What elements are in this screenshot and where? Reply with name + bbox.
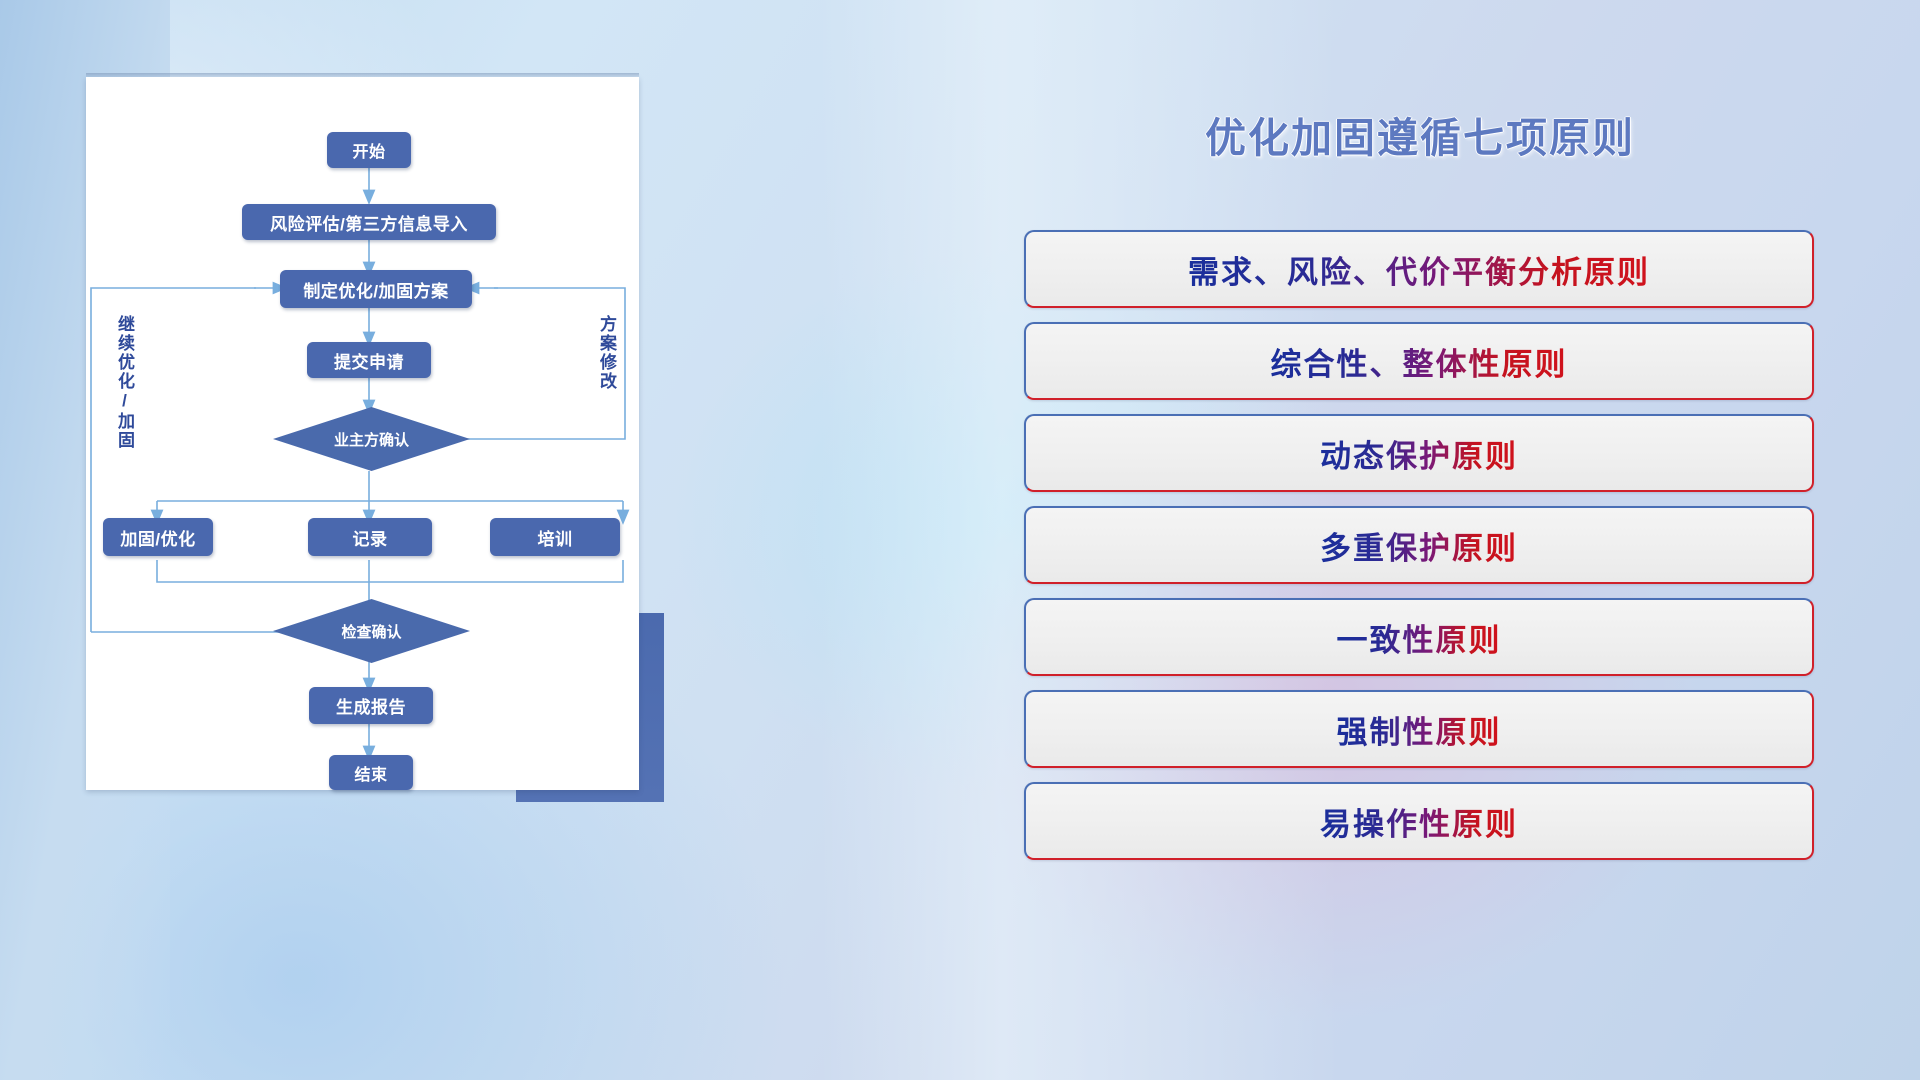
flow-node-label: 培训 (538, 525, 573, 550)
flow-node-reinforce-optimize[interactable]: 加固/优化 (103, 518, 213, 556)
page-title: 优化加固遵循七项原则 (1020, 104, 1820, 164)
flow-node-label: 制定优化/加固方案 (303, 277, 448, 302)
edge-label-continue-optimize: 继续优化/加固 (112, 315, 137, 450)
flow-node-label: 记录 (353, 525, 388, 550)
principle-label: 一致性原则 (1337, 615, 1502, 660)
flowchart: 开始 风险评估/第三方信息导入 制定优化/加固方案 提交申请 业主方确认 加固/… (86, 77, 639, 790)
principle-label: 综合性、整体性原则 (1271, 339, 1568, 384)
flow-node-check-confirm[interactable]: 检查确认 (273, 599, 470, 663)
flow-node-generate-report[interactable]: 生成报告 (309, 687, 433, 724)
principle-label: 动态保护原则 (1320, 431, 1518, 476)
flow-node-label: 风险评估/第三方信息导入 (270, 210, 468, 235)
flow-node-risk-assessment[interactable]: 风险评估/第三方信息导入 (242, 204, 496, 240)
flow-node-label: 加固/优化 (120, 525, 195, 550)
principle-item-6[interactable]: 强制性原则 (1024, 690, 1814, 768)
flow-node-label: 生成报告 (336, 693, 406, 718)
principle-item-1[interactable]: 需求、风险、代价平衡分析原则 (1024, 230, 1814, 308)
flow-node-make-plan[interactable]: 制定优化/加固方案 (280, 270, 472, 308)
principle-item-7[interactable]: 易操作性原则 (1024, 782, 1814, 860)
edge-label-plan-revision: 方案修改 (594, 315, 619, 391)
principle-label: 易操作性原则 (1320, 799, 1518, 844)
flow-node-label: 开始 (352, 138, 385, 162)
flow-node-owner-confirm[interactable]: 业主方确认 (273, 407, 470, 471)
flow-node-label: 检查确认 (341, 621, 401, 642)
flowchart-card: 开始 风险评估/第三方信息导入 制定优化/加固方案 提交申请 业主方确认 加固/… (86, 77, 639, 790)
flow-node-label: 提交申请 (334, 348, 404, 373)
principles-list: 需求、风险、代价平衡分析原则 综合性、整体性原则 动态保护原则 多重保护原则 一… (1024, 230, 1814, 874)
principle-item-4[interactable]: 多重保护原则 (1024, 506, 1814, 584)
flow-node-label: 结束 (354, 761, 387, 785)
flow-node-label: 业主方确认 (334, 429, 409, 450)
principle-item-3[interactable]: 动态保护原则 (1024, 414, 1814, 492)
principle-item-2[interactable]: 综合性、整体性原则 (1024, 322, 1814, 400)
flow-node-end[interactable]: 结束 (329, 755, 413, 790)
principle-label: 多重保护原则 (1320, 523, 1518, 568)
principle-label: 强制性原则 (1337, 707, 1502, 752)
principle-label: 需求、风险、代价平衡分析原则 (1188, 247, 1650, 292)
flow-node-start[interactable]: 开始 (327, 132, 411, 168)
principle-item-5[interactable]: 一致性原则 (1024, 598, 1814, 676)
flow-node-submit-application[interactable]: 提交申请 (307, 342, 431, 378)
flow-node-training[interactable]: 培训 (490, 518, 620, 556)
flow-node-record[interactable]: 记录 (308, 518, 432, 556)
